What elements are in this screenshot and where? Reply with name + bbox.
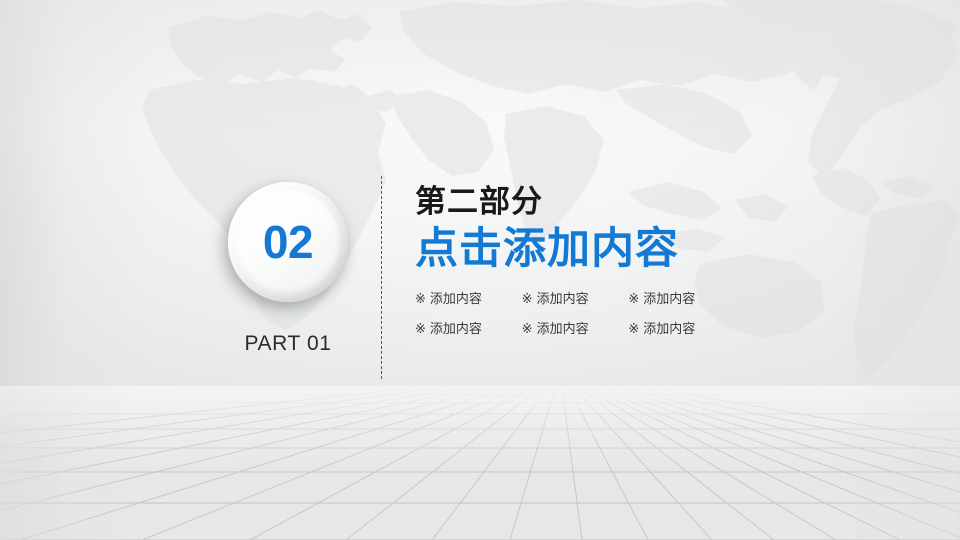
badge-inner-disc: 02 [236,190,340,294]
bullet-item[interactable]: ※添加内容 [415,289,522,309]
dashed-divider [381,176,382,379]
section-number-text: 02 [263,219,313,265]
bullet-row: ※添加内容 ※添加内容 ※添加内容 [415,319,735,339]
bullet-item-label: 添加内容 [643,321,695,336]
reference-mark-icon: ※ [415,289,426,309]
section-title: 第二部分 [415,183,925,220]
section-number-badge: 02 [228,182,348,302]
reference-mark-icon: ※ [522,289,533,309]
bullet-item[interactable]: ※添加内容 [522,289,629,309]
section-subtitle: 点击添加内容 [415,224,925,275]
slide-content: 第二部分 点击添加内容 ※添加内容 ※添加内容 ※添加内容 ※添加内容 ※添 [415,183,925,350]
reference-mark-icon: ※ [522,319,533,339]
bullet-item[interactable]: ※添加内容 [522,319,629,339]
bullet-item[interactable]: ※添加内容 [628,319,735,339]
perspective-floor-grid [0,386,960,540]
bullet-item-label: 添加内容 [430,291,482,306]
reference-mark-icon: ※ [628,289,639,309]
bullet-item-label: 添加内容 [643,291,695,306]
reference-mark-icon: ※ [415,319,426,339]
part-label: PART 01 [228,332,348,356]
presentation-slide: 02 PART 01 第二部分 点击添加内容 ※添加内容 ※添加内容 ※添加内容 [0,0,960,540]
reference-mark-icon: ※ [628,319,639,339]
bullet-row: ※添加内容 ※添加内容 ※添加内容 [415,289,735,309]
bullet-item[interactable]: ※添加内容 [628,289,735,309]
bullet-item-label: 添加内容 [537,321,589,336]
bullet-item[interactable]: ※添加内容 [415,319,522,339]
bullet-grid: ※添加内容 ※添加内容 ※添加内容 ※添加内容 ※添加内容 ※添加内容 [415,289,735,339]
bullet-item-label: 添加内容 [537,291,589,306]
bullet-item-label: 添加内容 [430,321,482,336]
